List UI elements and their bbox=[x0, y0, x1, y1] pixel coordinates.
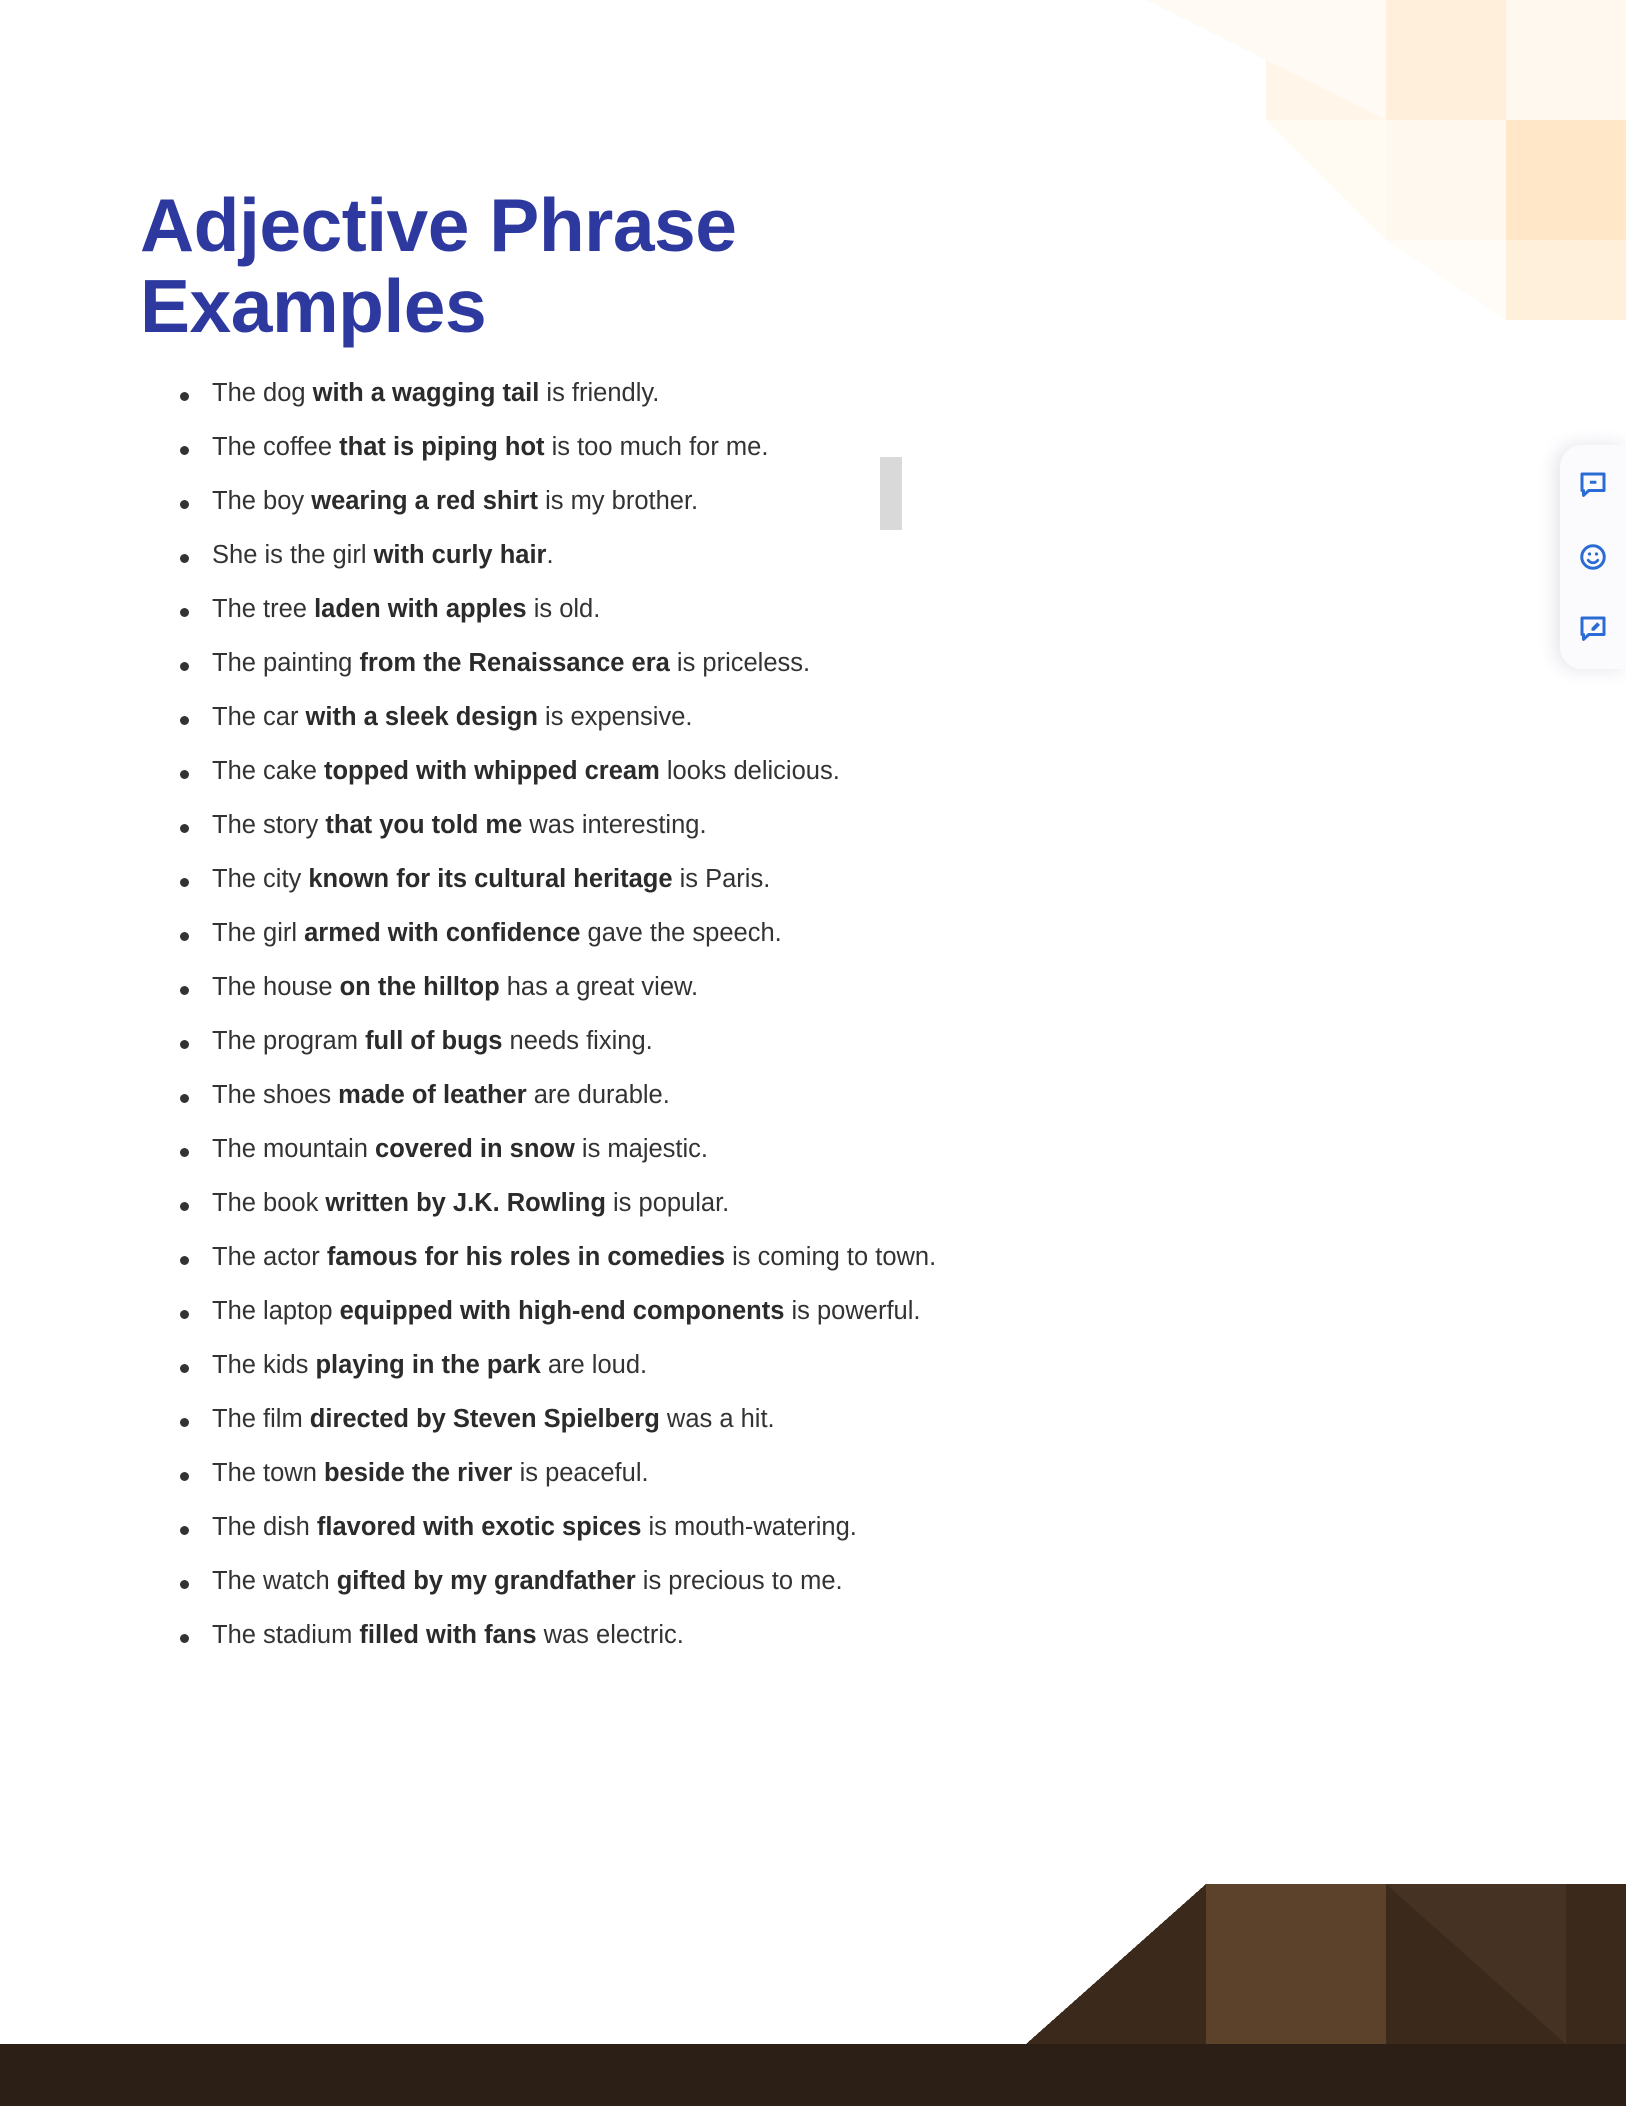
adjective-phrase: that you told me bbox=[325, 811, 522, 839]
list-item-suffix: is majestic. bbox=[575, 1135, 708, 1163]
list-item[interactable]: The town beside the river is peaceful. bbox=[140, 1461, 1160, 1487]
list-item-suffix: was a hit. bbox=[660, 1405, 775, 1433]
list-item-suffix: is peaceful. bbox=[512, 1459, 648, 1487]
adjective-phrase: that is piping hot bbox=[339, 433, 544, 461]
adjective-phrase: with a wagging tail bbox=[313, 379, 540, 407]
list-item[interactable]: The dog with a wagging tail is friendly. bbox=[140, 381, 1160, 407]
list-item-suffix: is precious to me. bbox=[636, 1567, 843, 1595]
list-item[interactable]: The dish flavored with exotic spices is … bbox=[140, 1515, 1160, 1541]
deco-square bbox=[1386, 1884, 1626, 2044]
list-item-suffix: looks delicious. bbox=[660, 757, 840, 785]
list-item[interactable]: The cake topped with whipped cream looks… bbox=[140, 759, 1160, 785]
list-item[interactable]: The kids playing in the park are loud. bbox=[140, 1353, 1160, 1379]
list-item-suffix: is priceless. bbox=[670, 649, 810, 677]
adjective-phrase: filled with fans bbox=[359, 1621, 536, 1649]
emoji-face-icon-button[interactable] bbox=[1575, 539, 1611, 575]
adjective-phrase: playing in the park bbox=[315, 1351, 540, 1379]
list-item-prefix: The car bbox=[212, 703, 306, 731]
comment-edit-icon bbox=[1578, 614, 1608, 644]
list-item-prefix: The actor bbox=[212, 1243, 327, 1271]
list-item-prefix: The cake bbox=[212, 757, 324, 785]
adjective-phrase: known for its cultural heritage bbox=[308, 865, 672, 893]
emoji-face-icon bbox=[1578, 542, 1608, 572]
floating-side-toolbar bbox=[1560, 445, 1626, 669]
adjective-phrase: wearing a red shirt bbox=[311, 487, 538, 515]
list-item-prefix: She is the girl bbox=[212, 541, 374, 569]
list-item-prefix: The stadium bbox=[212, 1621, 359, 1649]
list-item-prefix: The boy bbox=[212, 487, 311, 515]
adjective-phrase: with a sleek design bbox=[306, 703, 538, 731]
adjective-phrase: on the hilltop bbox=[340, 973, 500, 1001]
adjective-phrase: beside the river bbox=[324, 1459, 513, 1487]
list-item-suffix: is Paris. bbox=[673, 865, 771, 893]
comment-bubble-icon-button[interactable] bbox=[1575, 467, 1611, 503]
adjective-phrase: from the Renaissance era bbox=[359, 649, 669, 677]
list-item-suffix: is expensive. bbox=[538, 703, 693, 731]
deco-cell bbox=[1266, 0, 1386, 120]
deco-triangle bbox=[1266, 120, 1386, 240]
list-item-prefix: The tree bbox=[212, 595, 314, 623]
list-item[interactable]: The mountain covered in snow is majestic… bbox=[140, 1137, 1160, 1163]
list-item-suffix: is my brother. bbox=[538, 487, 698, 515]
adjective-phrase: directed by Steven Spielberg bbox=[310, 1405, 660, 1433]
adjective-phrase: topped with whipped cream bbox=[324, 757, 660, 785]
list-item[interactable]: The actor famous for his roles in comedi… bbox=[140, 1245, 1160, 1271]
list-item-suffix: is friendly. bbox=[539, 379, 659, 407]
adjective-phrase: famous for his roles in comedies bbox=[327, 1243, 725, 1271]
top-right-decoration bbox=[1146, 0, 1626, 300]
comment-bubble-icon bbox=[1578, 470, 1608, 500]
adjective-phrase: equipped with high-end components bbox=[340, 1297, 785, 1325]
adjective-phrase: made of leather bbox=[338, 1081, 526, 1109]
list-item[interactable]: The watch gifted by my grandfather is pr… bbox=[140, 1569, 1160, 1595]
deco-cell bbox=[1386, 0, 1506, 120]
list-item[interactable]: The film directed by Steven Spielberg wa… bbox=[140, 1407, 1160, 1433]
list-item-suffix: is coming to town. bbox=[725, 1243, 936, 1271]
list-item[interactable]: The shoes made of leather are durable. bbox=[140, 1083, 1160, 1109]
list-item-suffix: gave the speech. bbox=[580, 919, 781, 947]
list-item-prefix: The dog bbox=[212, 379, 313, 407]
list-item[interactable]: The painting from the Renaissance era is… bbox=[140, 651, 1160, 677]
list-item-suffix: is mouth-watering. bbox=[641, 1513, 856, 1541]
list-item-suffix: needs fixing. bbox=[502, 1027, 652, 1055]
list-item-prefix: The girl bbox=[212, 919, 304, 947]
list-item-prefix: The laptop bbox=[212, 1297, 340, 1325]
list-item-suffix: . bbox=[546, 541, 553, 569]
deco-triangle bbox=[1146, 0, 1386, 120]
list-item-prefix: The town bbox=[212, 1459, 324, 1487]
text-cursor-selection[interactable] bbox=[880, 457, 902, 530]
list-item-prefix: The painting bbox=[212, 649, 359, 677]
list-item[interactable]: The book written by J.K. Rowling is popu… bbox=[140, 1191, 1160, 1217]
list-item-suffix: is too much for me. bbox=[545, 433, 769, 461]
list-item-prefix: The film bbox=[212, 1405, 310, 1433]
deco-cell bbox=[1506, 240, 1626, 320]
bottom-bar bbox=[0, 2044, 1626, 2106]
list-item-prefix: The mountain bbox=[212, 1135, 375, 1163]
adjective-phrase: laden with apples bbox=[314, 595, 527, 623]
list-item[interactable]: The story that you told me was interesti… bbox=[140, 813, 1160, 839]
list-item-suffix: is powerful. bbox=[784, 1297, 920, 1325]
adjective-phrase: armed with confidence bbox=[304, 919, 580, 947]
list-item-prefix: The city bbox=[212, 865, 308, 893]
examples-list: The dog with a wagging tail is friendly.… bbox=[140, 381, 1160, 1649]
adjective-phrase: gifted by my grandfather bbox=[337, 1567, 636, 1595]
list-item[interactable]: The tree laden with apples is old. bbox=[140, 597, 1160, 623]
bottom-right-decoration bbox=[1026, 1844, 1626, 2044]
list-item-prefix: The kids bbox=[212, 1351, 315, 1379]
list-item[interactable]: The stadium filled with fans was electri… bbox=[140, 1623, 1160, 1649]
deco-cell bbox=[1506, 120, 1626, 240]
list-item-prefix: The shoes bbox=[212, 1081, 338, 1109]
list-item[interactable]: The laptop equipped with high-end compon… bbox=[140, 1299, 1160, 1325]
document-content: Adjective Phrase Examples The dog with a… bbox=[140, 185, 1160, 1677]
list-item-suffix: are loud. bbox=[541, 1351, 647, 1379]
list-item-suffix: is popular. bbox=[606, 1189, 729, 1217]
deco-cell bbox=[1386, 120, 1506, 240]
list-item-suffix: was interesting. bbox=[522, 811, 706, 839]
list-item-prefix: The book bbox=[212, 1189, 325, 1217]
list-item-suffix: is old. bbox=[527, 595, 601, 623]
adjective-phrase: full of bugs bbox=[365, 1027, 502, 1055]
list-item-suffix: are durable. bbox=[527, 1081, 670, 1109]
adjective-phrase: written by J.K. Rowling bbox=[325, 1189, 606, 1217]
list-item[interactable]: The girl armed with confidence gave the … bbox=[140, 921, 1160, 947]
list-item-prefix: The dish bbox=[212, 1513, 317, 1541]
list-item[interactable]: The house on the hilltop has a great vie… bbox=[140, 975, 1160, 1001]
list-item[interactable]: She is the girl with curly hair. bbox=[140, 543, 1160, 569]
list-item-suffix: has a great view. bbox=[500, 973, 698, 1001]
list-item-prefix: The story bbox=[212, 811, 325, 839]
comment-edit-icon-button[interactable] bbox=[1575, 611, 1611, 647]
adjective-phrase: covered in snow bbox=[375, 1135, 575, 1163]
deco-cell bbox=[1506, 0, 1626, 120]
list-item[interactable]: The boy wearing a red shirt is my brothe… bbox=[140, 489, 1160, 515]
list-item[interactable]: The city known for its cultural heritage… bbox=[140, 867, 1160, 893]
adjective-phrase: flavored with exotic spices bbox=[317, 1513, 642, 1541]
document-page: Adjective Phrase Examples The dog with a… bbox=[0, 0, 1626, 2106]
list-item[interactable]: The car with a sleek design is expensive… bbox=[140, 705, 1160, 731]
list-item-prefix: The coffee bbox=[212, 433, 339, 461]
deco-triangle bbox=[1386, 240, 1506, 320]
list-item[interactable]: The program full of bugs needs fixing. bbox=[140, 1029, 1160, 1055]
list-item-prefix: The watch bbox=[212, 1567, 337, 1595]
adjective-phrase: with curly hair bbox=[374, 541, 547, 569]
deco-triangle bbox=[1386, 1884, 1566, 2044]
list-item-suffix: was electric. bbox=[537, 1621, 684, 1649]
deco-square bbox=[1206, 1884, 1386, 2044]
list-item-prefix: The program bbox=[212, 1027, 365, 1055]
deco-triangle bbox=[1026, 1884, 1206, 2044]
page-title: Adjective Phrase Examples bbox=[140, 185, 780, 347]
list-item-prefix: The house bbox=[212, 973, 340, 1001]
list-item[interactable]: The coffee that is piping hot is too muc… bbox=[140, 435, 1160, 461]
